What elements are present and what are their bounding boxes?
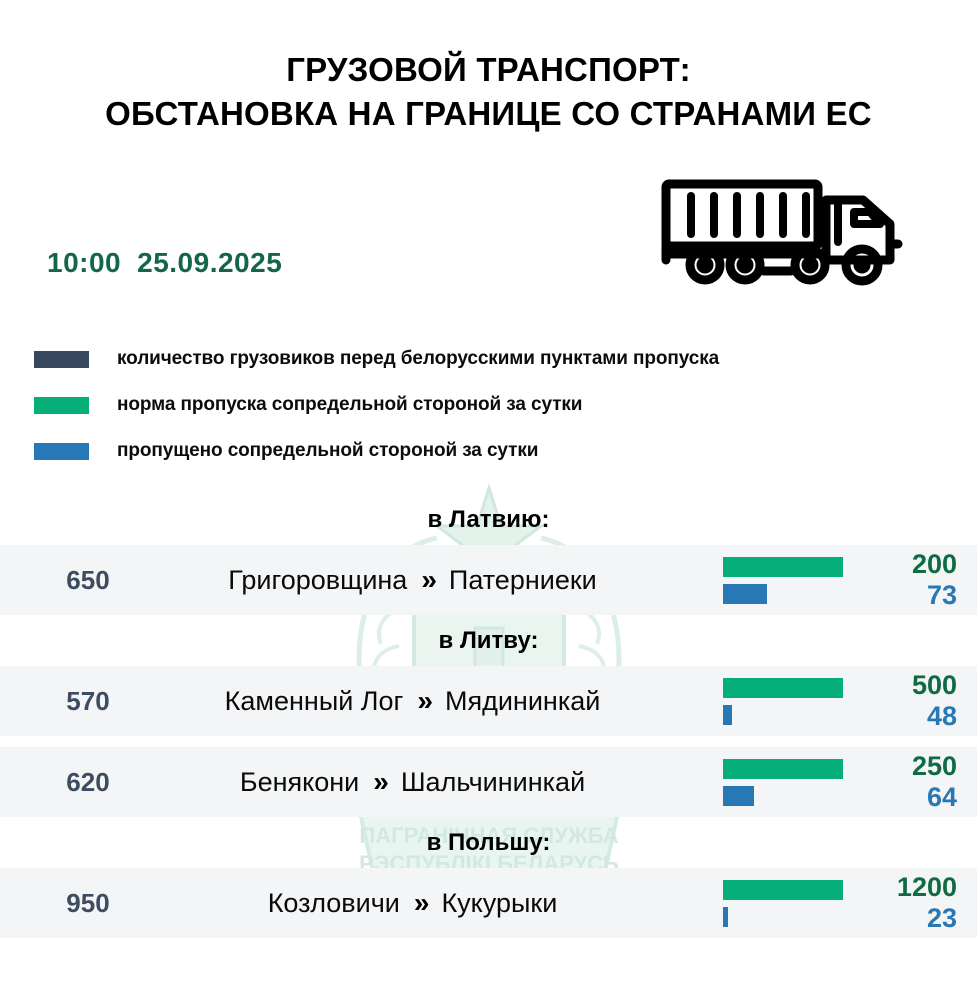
route-from: Козловичи	[268, 888, 400, 919]
route-to: Мядининкай	[445, 686, 600, 717]
legend-item-queue: количество грузовиков перед белорусскими…	[34, 336, 719, 382]
bars	[723, 545, 851, 615]
bar-norm	[723, 557, 843, 577]
values: 250 64	[851, 747, 957, 817]
bar-norm	[723, 759, 843, 779]
route: Бенякони » Шальчининкай	[140, 747, 685, 817]
bar-passed	[723, 584, 767, 604]
route-from: Григоровщина	[228, 565, 407, 596]
value-norm: 200	[912, 549, 957, 580]
route-from: Бенякони	[240, 767, 359, 798]
legend-label-passed: пропущено сопредельной стороной за сутки	[117, 440, 538, 462]
queue-count: 950	[40, 868, 136, 938]
queue-count: 620	[40, 747, 136, 817]
legend-label-queue: количество грузовиков перед белорусскими…	[117, 348, 719, 370]
queue-count: 570	[40, 666, 136, 736]
double-chevron-icon: »	[373, 766, 387, 798]
page-title-line1: ГРУЗОВОЙ ТРАНСПОРТ:	[286, 51, 691, 88]
bar-passed	[723, 705, 732, 725]
bar-norm	[723, 678, 843, 698]
section-heading-poland: в Польшу:	[0, 817, 977, 868]
legend-item-norm: норма пропуска сопредельной стороной за …	[34, 382, 719, 428]
timestamp-time: 10:00	[47, 247, 121, 278]
table-row: 570 Каменный Лог » Мядининкай 500 48	[0, 666, 977, 736]
page-title: ГРУЗОВОЙ ТРАНСПОРТ: ОБСТАНОВКА НА ГРАНИЦ…	[0, 48, 977, 136]
double-chevron-icon: »	[421, 564, 435, 596]
timestamp-date: 25.09.2025	[137, 247, 282, 278]
route-to: Патерниеки	[449, 565, 597, 596]
table-row: 620 Бенякони » Шальчининкай 250 64	[0, 747, 977, 817]
route-to: Шальчининкай	[401, 767, 585, 798]
double-chevron-icon: »	[417, 685, 431, 717]
values: 1200 23	[851, 868, 957, 938]
truck-icon	[658, 172, 910, 288]
value-norm: 500	[912, 670, 957, 701]
values: 200 73	[851, 545, 957, 615]
route: Григоровщина » Патерниеки	[140, 545, 685, 615]
bars	[723, 666, 851, 736]
value-norm: 1200	[897, 872, 957, 903]
legend-label-norm: норма пропуска сопредельной стороной за …	[117, 394, 582, 416]
page-title-line2: ОБСТАНОВКА НА ГРАНИЦЕ СО СТРАНАМИ ЕС	[0, 92, 977, 136]
double-chevron-icon: »	[414, 887, 428, 919]
value-passed: 23	[927, 903, 957, 934]
bar-passed	[723, 786, 754, 806]
legend: количество грузовиков перед белорусскими…	[34, 336, 719, 474]
section-heading-latvia: в Латвию:	[0, 494, 977, 545]
route: Козловичи » Кукурыки	[140, 868, 685, 938]
table-row: 650 Григоровщина » Патерниеки 200 73	[0, 545, 977, 615]
bars	[723, 868, 851, 938]
value-passed: 64	[927, 782, 957, 813]
table-row: 950 Козловичи » Кукурыки 1200 23	[0, 868, 977, 938]
value-norm: 250	[912, 751, 957, 782]
legend-swatch-queue	[34, 351, 89, 368]
values: 500 48	[851, 666, 957, 736]
queue-count: 650	[40, 545, 136, 615]
legend-swatch-passed	[34, 443, 89, 460]
value-passed: 48	[927, 701, 957, 732]
legend-swatch-norm	[34, 397, 89, 414]
bar-passed	[723, 907, 728, 927]
route-from: Каменный Лог	[225, 686, 404, 717]
section-heading-lithuania: в Литву:	[0, 615, 977, 666]
bar-norm	[723, 880, 843, 900]
bars	[723, 747, 851, 817]
row-separator	[0, 736, 977, 747]
value-passed: 73	[927, 580, 957, 611]
timestamp: 10:0025.09.2025	[47, 247, 282, 279]
legend-item-passed: пропущено сопредельной стороной за сутки	[34, 428, 719, 474]
border-crossing-sections: в Латвию: 650 Григоровщина » Патерниеки …	[0, 494, 977, 938]
route-to: Кукурыки	[441, 888, 557, 919]
route: Каменный Лог » Мядининкай	[140, 666, 685, 736]
